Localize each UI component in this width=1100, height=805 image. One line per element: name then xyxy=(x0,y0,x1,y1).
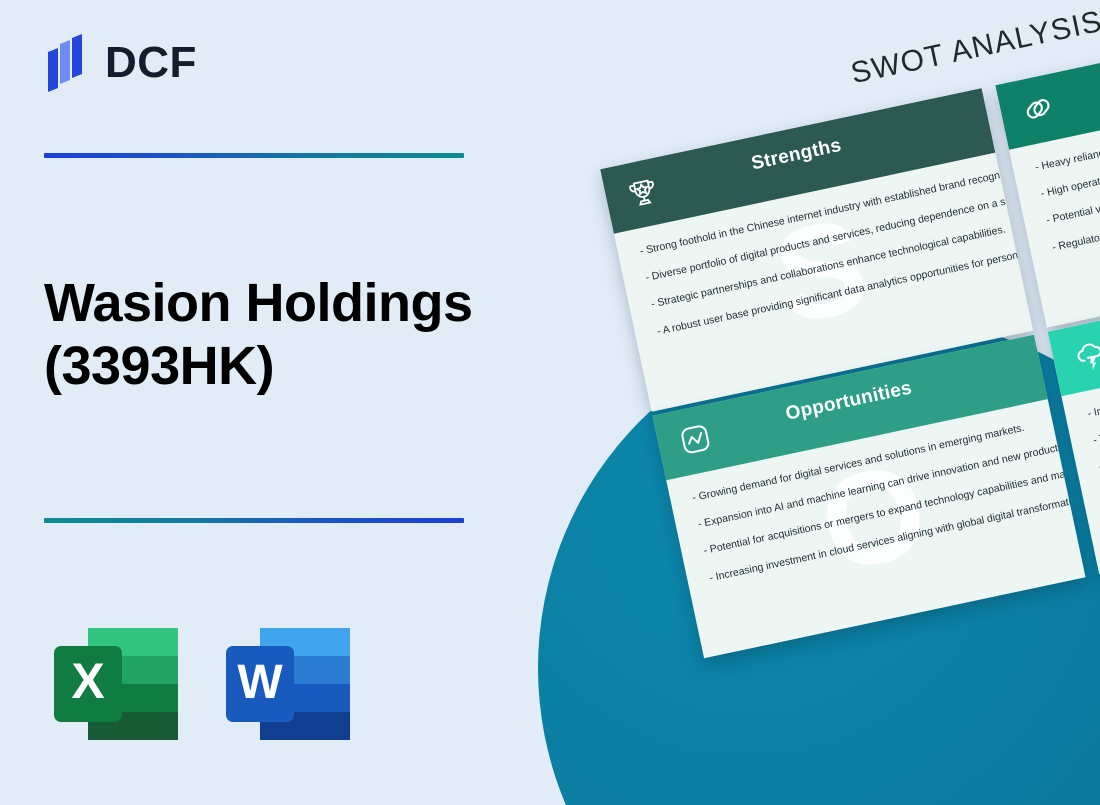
company-name: Wasion Holdings xyxy=(44,272,514,335)
company-ticker: (3393HK) xyxy=(44,335,514,398)
swot-slide: DCF Wasion Holdings (3393HK) X xyxy=(0,0,1100,805)
divider-bottom xyxy=(44,518,464,523)
brand-name: DCF xyxy=(105,41,197,85)
page-title: Wasion Holdings (3393HK) xyxy=(44,272,514,397)
left-panel: DCF Wasion Holdings (3393HK) X xyxy=(0,0,540,805)
brand-logo[interactable]: DCF xyxy=(44,34,197,92)
svg-text:W: W xyxy=(237,656,283,709)
export-icon-group: X W xyxy=(44,620,360,748)
word-icon[interactable]: W xyxy=(216,620,360,748)
divider-top xyxy=(44,153,464,158)
excel-icon[interactable]: X xyxy=(44,620,188,748)
dcf-bars-logo-icon xyxy=(44,34,92,92)
svg-text:X: X xyxy=(71,653,104,709)
